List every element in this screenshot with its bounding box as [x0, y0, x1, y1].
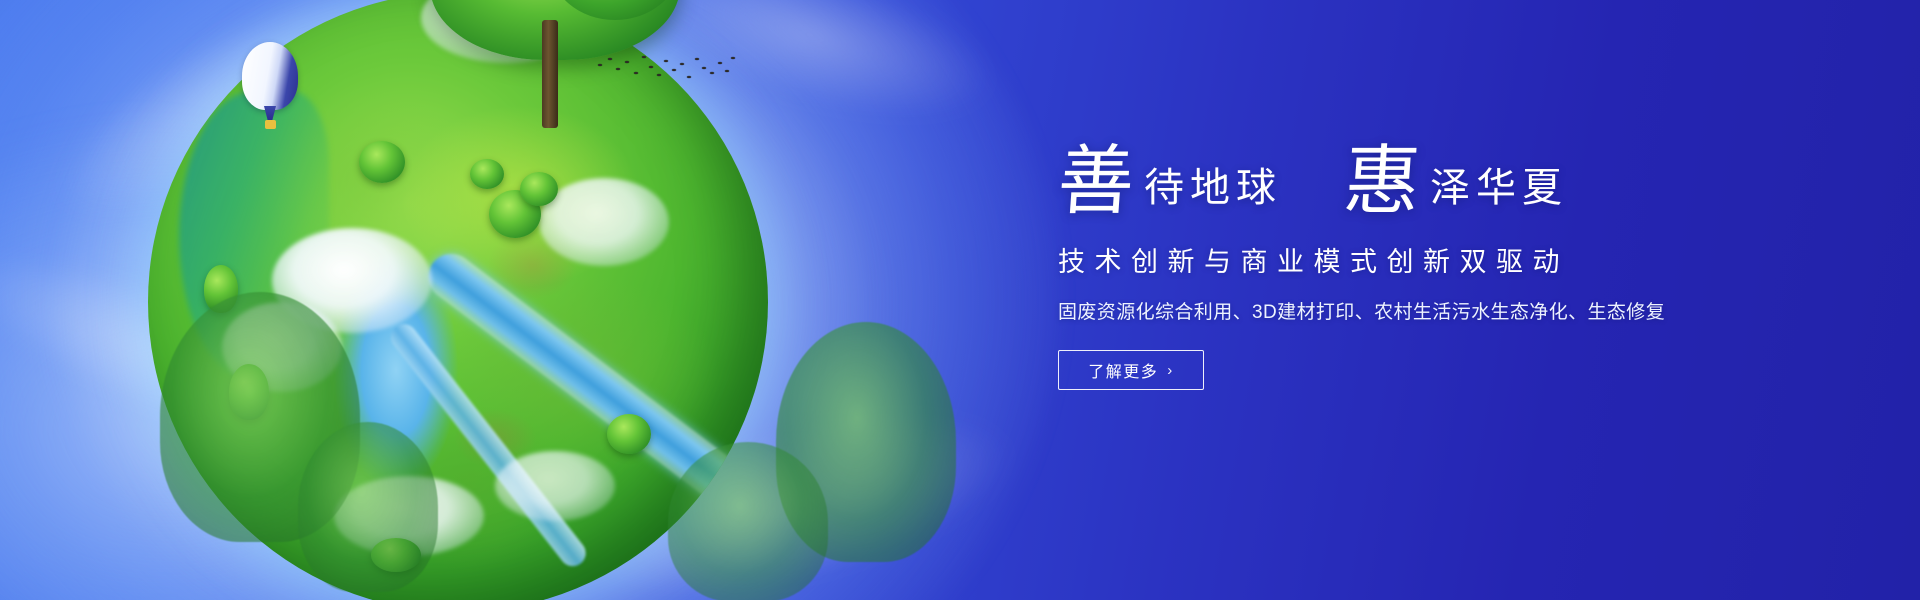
- headline-small-2: 泽华夏: [1430, 168, 1568, 208]
- foreground-tree: [668, 442, 828, 600]
- tree-cluster: [520, 172, 558, 206]
- balloon-basket: [265, 120, 276, 129]
- hero-description: 固废资源化综合利用、3D建材打印、农村生活污水生态净化、生态修复: [1058, 297, 1758, 324]
- bird-flock-icon: [594, 54, 734, 88]
- headline-small-1: 待地球: [1144, 168, 1282, 208]
- tree-cluster: [607, 414, 651, 454]
- learn-more-button[interactable]: 了解更多 ›: [1058, 350, 1204, 390]
- foreground-tree: [298, 422, 438, 592]
- hot-air-balloon-icon: [242, 42, 298, 142]
- tree-cluster: [470, 159, 504, 189]
- tree-cluster: [359, 141, 405, 183]
- page-title: 善 待地球 惠 泽华夏: [1058, 138, 1758, 214]
- headline-big-1: 善: [1055, 144, 1136, 220]
- headline-big-2: 惠: [1341, 144, 1422, 220]
- balloon-neck: [264, 106, 276, 120]
- chevron-right-icon: ›: [1167, 363, 1174, 378]
- cloud-puff: [539, 178, 669, 266]
- balloon-envelope: [242, 42, 298, 110]
- hero-subtitle: 技术创新与商业模式创新双驱动: [1058, 240, 1758, 279]
- hero-copy: 善 待地球 惠 泽华夏 技术创新与商业模式创新双驱动 固废资源化综合利用、3D建…: [1058, 138, 1758, 390]
- hero-banner: 善 待地球 惠 泽华夏 技术创新与商业模式创新双驱动 固废资源化综合利用、3D建…: [0, 0, 1920, 600]
- tree-trunk: [542, 20, 558, 128]
- cloud-puff: [495, 451, 615, 521]
- planet-earth-image: [148, 0, 768, 600]
- learn-more-label: 了解更多: [1088, 358, 1158, 382]
